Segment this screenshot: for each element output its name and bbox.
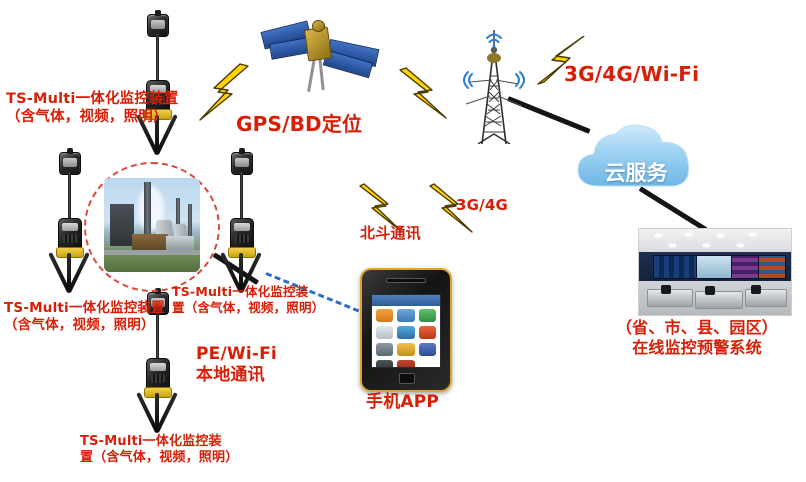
satellite-boom [307, 58, 316, 92]
device-top [128, 8, 186, 158]
diagram-canvas: 云服务 [0, 0, 806, 482]
ceiling-light [703, 244, 710, 247]
video-wall-panel [758, 255, 786, 279]
app-icon[interactable] [376, 326, 393, 339]
ceiling-light [749, 233, 756, 236]
plant-building [166, 236, 194, 250]
ceiling [639, 229, 791, 252]
app-icon[interactable] [397, 309, 414, 322]
operator-console [695, 291, 743, 309]
device-mast [68, 172, 71, 222]
chimney [144, 182, 151, 234]
label-3g4g: 3G/4G [456, 196, 508, 215]
device-body [230, 218, 254, 250]
app-icon [419, 360, 436, 368]
label-beidou-comm: 北斗通讯 [360, 224, 421, 243]
device-mast [240, 172, 243, 222]
satellite-antenna [312, 20, 325, 32]
tripod-leg [67, 253, 71, 289]
ceiling-light [737, 244, 744, 247]
app-icon[interactable] [397, 360, 414, 368]
video-wall-panel [653, 255, 697, 279]
phone-home-button[interactable] [399, 373, 415, 384]
label-gps-bd: GPS/BD定位 [236, 112, 362, 137]
ceiling-light [685, 233, 692, 236]
chimney [188, 204, 192, 238]
label-phone-app: 手机APP [366, 392, 439, 413]
label-device-mid-left: TS-Multi一体化监控装置 （含气体，视频，照明） [4, 300, 165, 334]
label-device-center-right: TS-Multi一体化监控装 置（含气体，视频，照明） [172, 284, 324, 315]
communication-tower-icon [452, 22, 536, 144]
device-body [58, 218, 82, 250]
ceiling-light [669, 244, 676, 247]
label-3g4g-wifi: 3G/4G/Wi-Fi [564, 62, 699, 87]
app-icon[interactable] [376, 309, 393, 322]
app-icon[interactable] [419, 326, 436, 339]
cloud-service-node: 云服务 [570, 120, 702, 200]
app-icon[interactable] [397, 343, 414, 356]
phone-status-bar [372, 295, 440, 306]
app-icon[interactable] [376, 343, 393, 356]
device-body [146, 358, 170, 390]
ceiling-light [655, 234, 662, 237]
phone-screen[interactable] [371, 294, 441, 368]
plant-building [132, 234, 168, 250]
operator-chair [661, 285, 671, 294]
label-device-bottom: TS-Multi一体化监控装 置（含气体，视频，照明） [80, 434, 238, 467]
app-icon[interactable] [419, 309, 436, 322]
tower-svg [452, 22, 536, 144]
bolt-satellite-to-tower [396, 66, 460, 122]
phone-speaker [386, 278, 426, 283]
app-icon[interactable] [376, 360, 393, 368]
device-mast [156, 34, 159, 84]
device-right [212, 146, 270, 296]
app-icon[interactable] [397, 326, 414, 339]
cloud-label: 云服务 [570, 157, 702, 187]
app-icon[interactable] [419, 343, 436, 356]
rugged-tablet-app[interactable] [360, 268, 452, 392]
label-local-comm: PE/Wi-Fi 本地通讯 [196, 344, 277, 387]
label-device-top-left: TS-Multi一体化监控装置 （含气体，视频，照明） [6, 90, 178, 126]
satellite-icon [262, 14, 378, 102]
label-control-center: （省、市、县、园区） 在线监控预警系统 [610, 318, 784, 358]
plant-building [110, 204, 134, 246]
ceiling-light [717, 234, 724, 237]
plant-ground [104, 255, 200, 272]
industrial-plant-photo [104, 178, 200, 272]
video-wall-panel [731, 255, 759, 279]
app-grid[interactable] [376, 309, 436, 368]
tripod-leg [155, 393, 159, 429]
control-room-photo [638, 228, 792, 316]
operator-chair [751, 285, 761, 294]
video-wall-panel [696, 255, 732, 279]
operator-chair [705, 286, 715, 295]
